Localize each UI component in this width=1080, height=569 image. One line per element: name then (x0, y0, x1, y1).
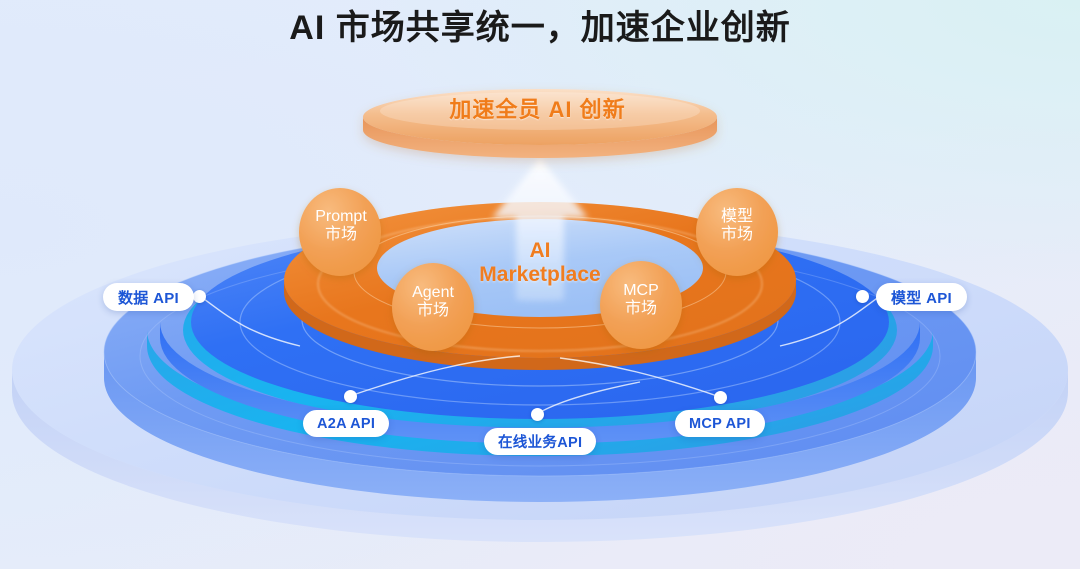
connector-dot-mcp-api (714, 391, 727, 404)
market-bubble-model (696, 188, 778, 276)
diagram-canvas: AI 市场共享统一，加速企业创新 加速全员 AI 创新 AI Marketpla… (0, 0, 1080, 569)
connector-dot-a2a-api (344, 390, 357, 403)
top-banner-label: 加速全员 AI 创新 (365, 92, 710, 124)
ai-marketplace-label: AI Marketplace (455, 239, 625, 288)
api-label-data[interactable]: 数据 API (103, 283, 194, 311)
marketplace-line1: AI (455, 239, 625, 263)
api-label-mcp[interactable]: MCP API (675, 410, 765, 437)
marketplace-line2: Marketplace (455, 263, 625, 287)
market-bubble-prompt (299, 188, 381, 276)
connector-dot-model-api (856, 290, 869, 303)
connector-dot-data-api (193, 290, 206, 303)
api-label-a2a[interactable]: A2A API (303, 410, 389, 437)
connector-dot-online-api (531, 408, 544, 421)
page-title: AI 市场共享统一，加速企业创新 (0, 4, 1080, 52)
api-label-online[interactable]: 在线业务API (484, 428, 596, 455)
api-label-model[interactable]: 模型 API (876, 283, 967, 311)
